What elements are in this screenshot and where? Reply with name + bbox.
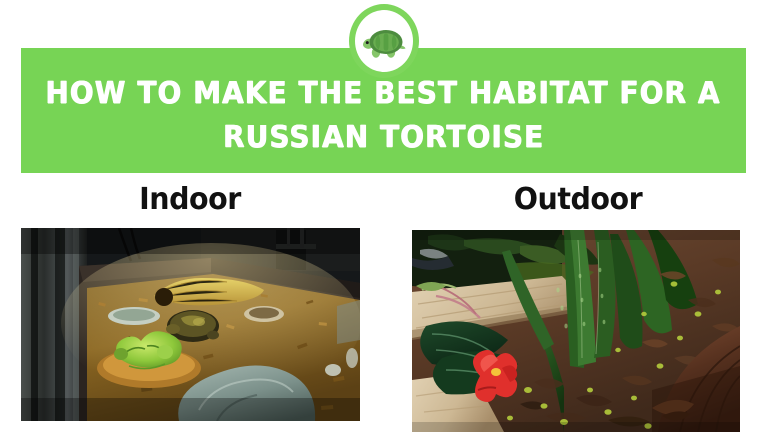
turtle-badge — [349, 4, 419, 78]
title-line-2: RUSSIAN TORTOISE — [223, 120, 544, 156]
infographic-root: HOW TO MAKE THE BEST HABITAT FOR A RUSSI… — [0, 0, 768, 432]
indoor-habitat-photo — [21, 228, 360, 421]
title-line-1: HOW TO MAKE THE BEST HABITAT FOR A — [46, 76, 721, 112]
outdoor-habitat-photo — [412, 230, 740, 432]
section-labels-row: Indoor Outdoor — [0, 181, 768, 221]
turtle-icon — [361, 21, 407, 61]
section-label-outdoor: Outdoor — [398, 181, 759, 219]
section-label-indoor: Indoor — [10, 181, 371, 219]
